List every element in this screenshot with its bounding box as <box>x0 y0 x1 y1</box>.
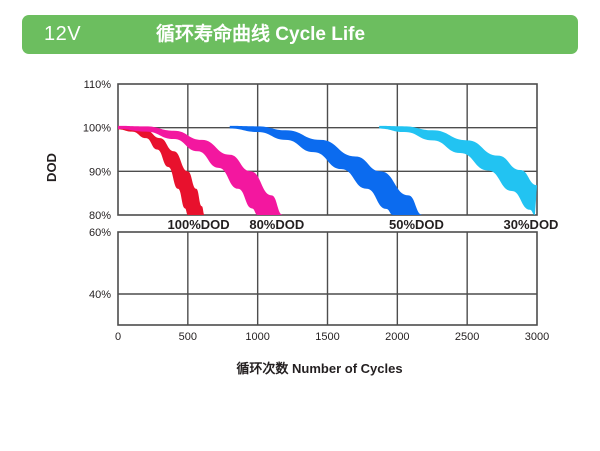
cycle-life-chart: 80%90%100%110%40%60%05001000150020002500… <box>0 60 600 390</box>
header-voltage-label: 12V <box>44 22 81 47</box>
page-title: 循环寿命曲线 Cycle Life <box>156 22 365 47</box>
series-label-100pctdod: 100%DOD <box>168 217 230 232</box>
series-label-30pctdod: 30%DOD <box>504 217 559 232</box>
upper-ytick-label: 110% <box>84 79 112 91</box>
lower-ytick-label: 60% <box>89 227 111 239</box>
xtick-label: 0 <box>115 331 121 343</box>
xtick-label: 1500 <box>315 331 339 343</box>
xtick-label: 2000 <box>385 331 409 343</box>
upper-ytick-label: 80% <box>89 210 111 222</box>
chart-svg: 80%90%100%110%40%60%05001000150020002500… <box>0 60 600 390</box>
xtick-label: 500 <box>179 331 197 343</box>
x-axis-title: 循环次数 Number of Cycles <box>236 361 402 376</box>
xtick-label: 3000 <box>525 331 549 343</box>
xtick-label: 1000 <box>245 331 269 343</box>
xtick-label: 2500 <box>455 331 479 343</box>
lower-ytick-label: 40% <box>89 289 111 301</box>
upper-ytick-label: 100% <box>83 123 111 135</box>
header-banner: 12V 循环寿命曲线 Cycle Life <box>22 15 578 54</box>
upper-ytick-label: 90% <box>89 166 111 178</box>
y-axis-title: DOD <box>44 153 59 182</box>
page-root: 12V 循环寿命曲线 Cycle Life 80%90%100%110%40%6… <box>0 0 600 451</box>
series-label-50pctdod: 50%DOD <box>389 217 444 232</box>
series-label-80pctdod: 80%DOD <box>249 217 304 232</box>
